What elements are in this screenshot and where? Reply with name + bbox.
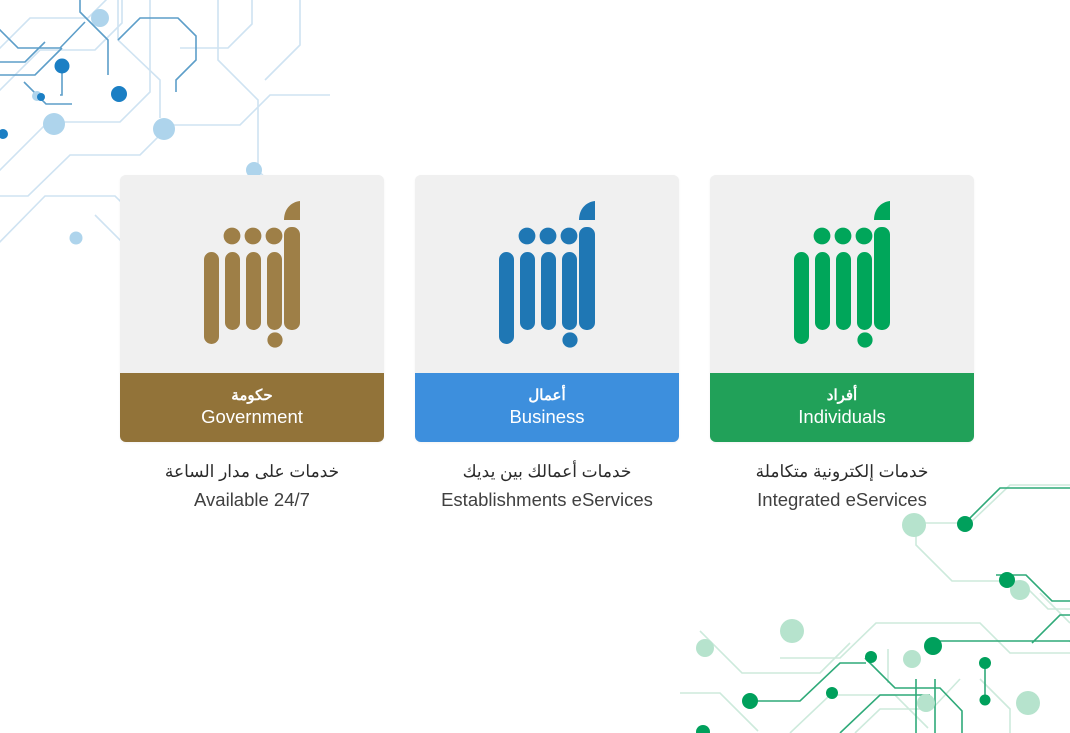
absher-logo-icon — [203, 200, 301, 348]
absher-logo-icon — [498, 200, 596, 348]
card-label-ar-government: حكومة — [231, 387, 272, 404]
card-logo-area-government — [120, 175, 384, 373]
caption-en-individuals: Integrated eServices — [710, 489, 974, 511]
caption-en-business: Establishments eServices — [415, 489, 679, 511]
service-card-government[interactable]: حكومة Government — [120, 175, 384, 442]
card-label-ar-individuals: أفراد — [827, 387, 857, 404]
card-label-en-individuals: Individuals — [798, 406, 885, 427]
caption-en-government: Available 24/7 — [120, 489, 384, 511]
service-card-individuals[interactable]: أفراد Individuals — [710, 175, 974, 442]
caption-ar-government: خدمات على مدار الساعة — [120, 462, 384, 482]
card-logo-area-business — [415, 175, 679, 373]
card-label-ar-business: أعمال — [528, 387, 565, 404]
service-caption-business: خدمات أعمالك بين يديك Establishments eSe… — [415, 462, 679, 511]
card-footer-individuals: أفراد Individuals — [710, 373, 974, 442]
service-caption-list: خدمات على مدار الساعة Available 24/7 خدم… — [120, 462, 974, 511]
service-caption-individuals: خدمات إلكترونية متكاملة Integrated eServ… — [710, 462, 974, 511]
caption-ar-business: خدمات أعمالك بين يديك — [415, 462, 679, 482]
card-label-en-government: Government — [201, 406, 303, 427]
card-logo-area-individuals — [710, 175, 974, 373]
page-root: حكومة Government — [0, 0, 1070, 733]
caption-ar-individuals: خدمات إلكترونية متكاملة — [710, 462, 974, 482]
card-footer-government: حكومة Government — [120, 373, 384, 442]
card-label-en-business: Business — [509, 406, 584, 427]
service-caption-government: خدمات على مدار الساعة Available 24/7 — [120, 462, 384, 511]
service-card-list: حكومة Government — [120, 175, 974, 442]
circuit-board-pattern-green-icon — [680, 483, 1070, 733]
service-card-business[interactable]: أعمال Business — [415, 175, 679, 442]
absher-logo-icon — [793, 200, 891, 348]
card-footer-business: أعمال Business — [415, 373, 679, 442]
